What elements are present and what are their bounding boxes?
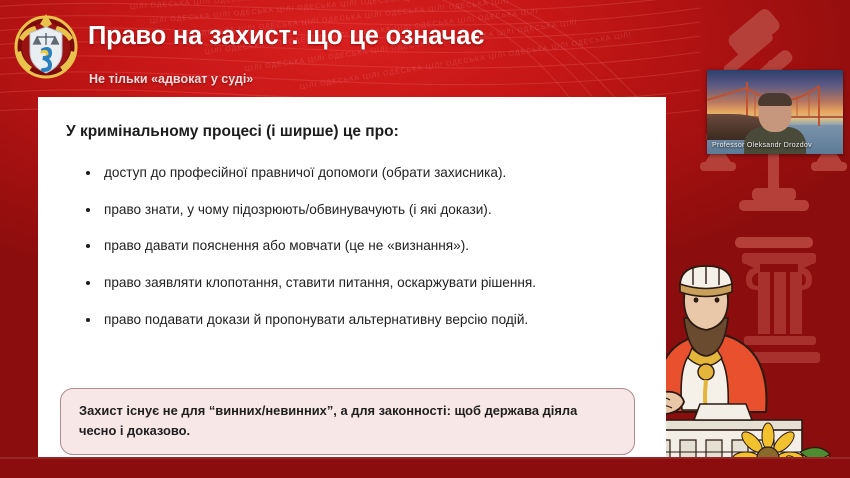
- callout-box: Захист існує не для “винних/невинних”, а…: [60, 388, 635, 455]
- page-subtitle: Не тільки «адвокат у суді»: [89, 72, 253, 86]
- list-item: право давати пояснення або мовчати (це н…: [84, 236, 646, 257]
- list-item: право знати, у чому підозрюють/обвинувач…: [84, 200, 646, 221]
- prosecutor-emblem-icon: [9, 8, 83, 82]
- list-item: доступ до професійної правничої допомоги…: [84, 163, 646, 184]
- video-caption: Professor Oleksandr Drozdov: [712, 142, 812, 149]
- slide-stage: ЦІЛІ ОДЕСЬКА ЦІЛІ ОДЕСЬКА ЦІЛІ ОДЕСЬКА Ц…: [0, 0, 850, 478]
- video-thumbnail[interactable]: Professor Oleksandr Drozdov: [707, 70, 843, 154]
- video-person-hair: [758, 93, 792, 106]
- list-item: право заявляти клопотання, ставити питан…: [84, 273, 646, 294]
- list-item: право подавати докази й пропонувати альт…: [84, 310, 646, 331]
- content-heading: У кримінальному процесі (і ширше) це про…: [66, 123, 399, 141]
- page-title: Право на захист: що це означає: [88, 22, 484, 51]
- bottom-band: [0, 457, 850, 478]
- bullet-list: доступ до професійної правничої допомоги…: [84, 163, 646, 346]
